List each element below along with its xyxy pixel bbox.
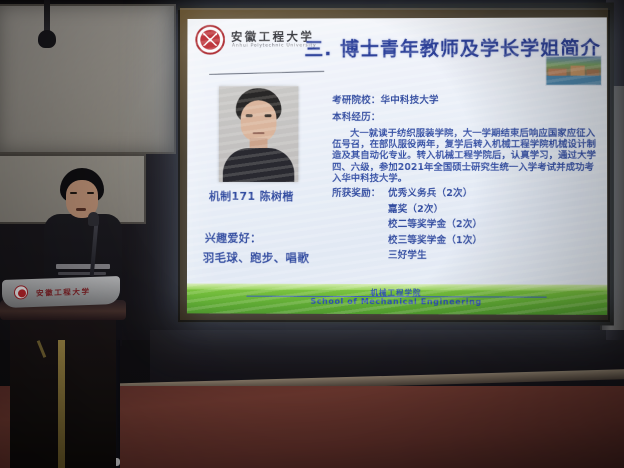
ceiling-fixture: [38, 30, 56, 48]
microphone-icon: [88, 212, 99, 226]
hobby-label: 兴趣爱好：: [205, 230, 262, 246]
left-wall-panel: [0, 4, 176, 154]
award-item: 三好学生: [388, 248, 601, 264]
podium-body: [10, 318, 116, 468]
podium-university-logo-icon: [14, 285, 28, 299]
undergrad-paragraph: 大一就读于纺织服装学院，大一学期结束后响应国家应征入伍号召，在部队服役两年，复学…: [332, 128, 601, 184]
award-item: 校二等奖学金（2次）: [388, 217, 601, 233]
undergrad-label: 本科经历：: [332, 109, 601, 123]
ceiling-rod: [44, 0, 50, 34]
awards-list: 优秀义务兵（2次） 嘉奖（2次） 校二等奖学金（2次） 校三等奖学金（1次） 三…: [388, 186, 601, 264]
award-item: 优秀义务兵（2次）: [388, 186, 601, 202]
student-portrait-photo: [219, 86, 299, 182]
lectern-podium: 安徽工程大学: [0, 300, 128, 468]
grad-school-value: 华中科技大学: [381, 95, 439, 106]
grad-school-row: 考研院校：华中科技大学: [332, 92, 601, 106]
grad-school-label: 考研院校：: [332, 95, 380, 106]
presentation-slide: 安徽工程大学 Anhui Polytechnic University 三. 博…: [187, 17, 607, 315]
award-item: 校三等奖学金（1次）: [388, 233, 601, 249]
awards-block: 所获奖励： 优秀义务兵（2次） 嘉奖（2次） 校二等奖学金（2次） 校三等奖学金…: [332, 186, 601, 264]
campus-aerial-photo: [545, 56, 601, 86]
portrait-caption: 机制171 陈树楷: [209, 188, 294, 204]
slide-footer-band: 机械工程学院 School of Mechanical Engineering: [187, 283, 607, 314]
award-item: 嘉奖（2次）: [388, 202, 601, 218]
title-underline: [209, 71, 324, 75]
hobby-value: 羽毛球、跑步、唱歌: [203, 250, 309, 266]
lecture-hall-scene: 安徽工程大学 Anhui Polytechnic University 三. 博…: [0, 0, 624, 468]
podium-plate-text: 安徽工程大学: [36, 286, 91, 299]
slide-text-column: 考研院校：华中科技大学 本科经历： 大一就读于纺织服装学院，大一学期结束后响应国…: [332, 92, 601, 264]
university-logo-icon: [195, 25, 225, 55]
podium-nameplate: 安徽工程大学: [2, 276, 120, 308]
awards-label: 所获奖励：: [332, 186, 388, 264]
footer-school-en: School of Mechanical Engineering: [187, 296, 607, 306]
university-name-cn: 安徽工程大学: [231, 28, 314, 44]
